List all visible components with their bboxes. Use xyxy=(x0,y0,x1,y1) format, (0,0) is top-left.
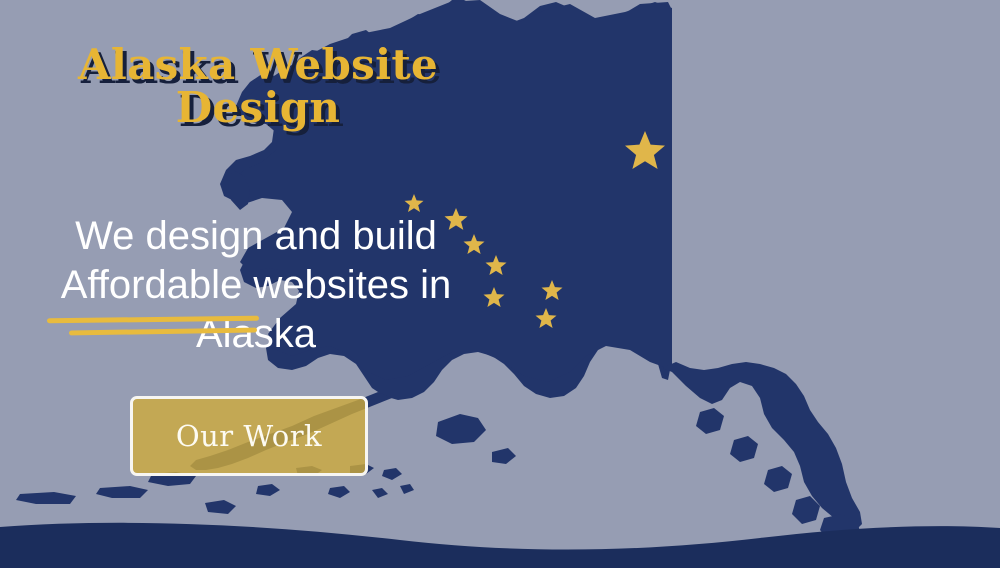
our-work-button[interactable]: Our Work xyxy=(130,396,368,476)
headline-highlight-text: Affordable xyxy=(61,263,243,307)
hero-headline: We design and build Affordable websites … xyxy=(10,212,502,358)
headline-line-2: Affordable websites in xyxy=(10,261,502,310)
headline-line-3: Alaska xyxy=(10,310,502,359)
hero-content: Alaska Website Design We design and buil… xyxy=(0,0,1000,568)
brand-title-line-1: Alaska Website xyxy=(78,40,438,89)
headline-highlight-affordable: Affordable xyxy=(61,261,243,310)
headline-line-1: We design and build xyxy=(10,212,502,261)
brand-title-line-2: Design xyxy=(176,83,340,132)
hero-banner: Alaska Website Design We design and buil… xyxy=(0,0,1000,568)
page-title: Alaska Website Design xyxy=(18,44,498,130)
headline-line-2-suffix: websites in xyxy=(242,263,451,307)
